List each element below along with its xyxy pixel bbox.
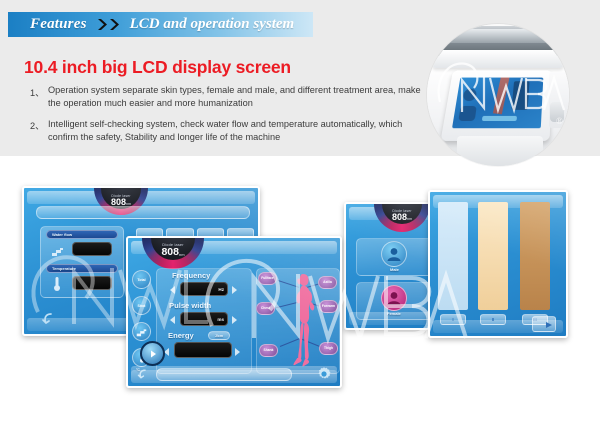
photo-lcd-bezel [440, 70, 552, 141]
skin-type-iii[interactable] [520, 202, 550, 310]
list-item: 1、 Operation system separate skin types,… [30, 84, 430, 111]
bullet-text: Intelligent self-checking system, check … [48, 118, 430, 145]
area-shank[interactable]: Shank [259, 344, 278, 357]
skin-type-label-ii[interactable]: II [480, 314, 506, 325]
area-forearm[interactable]: Forearm [319, 300, 338, 313]
pulse-width-value[interactable]: ms [180, 312, 228, 326]
banner-label: Features [30, 16, 87, 33]
faucet-icon [49, 242, 65, 258]
pulse-width-label: Pulse width [169, 301, 211, 310]
pulse-width-unit: ms [217, 317, 227, 322]
water-flow-label-bar: Water flow [46, 230, 118, 239]
thermometer-icon [51, 276, 64, 292]
play-button-icon[interactable] [140, 341, 165, 366]
frequency-unit: Hz [218, 287, 227, 292]
male-head-icon [381, 241, 407, 267]
brand-logo-badge: Diode laser 808 nm [142, 238, 204, 269]
bullet-number: 2、 [30, 118, 48, 145]
status-bar-field[interactable] [156, 368, 292, 381]
logo-line-2: 808 [161, 248, 179, 258]
area-axilla[interactable]: Axilla [318, 276, 337, 289]
logo-line-3: nm [407, 217, 412, 222]
total-counter[interactable]: Total [132, 270, 151, 289]
skin-type-i[interactable] [438, 202, 468, 310]
bullet-text: Operation system separate skin types, fe… [48, 84, 430, 111]
lcd-screen-skin-type[interactable]: I II III [428, 190, 568, 338]
area-chest[interactable]: Chest [256, 302, 275, 315]
brand-logo-badge: Diode laser 808 nm [374, 204, 430, 232]
features-banner: Features LCD and operation system [8, 12, 313, 37]
back-arrow-icon[interactable] [136, 367, 150, 381]
area-thigh[interactable]: Thigh [319, 342, 338, 355]
temperature-label: Temperature [52, 266, 76, 271]
back-arrow-icon[interactable] [40, 310, 58, 328]
feature-bullet-list: 1、 Operation system separate skin types,… [30, 84, 430, 151]
pulse-width-increment[interactable] [232, 316, 237, 324]
lcd-screen-parameters[interactable]: Diode laser 808 nm Total Shot °C [126, 236, 342, 388]
frequency-label: Frequency [172, 271, 210, 280]
female-head-icon [381, 285, 407, 311]
water-flow-value[interactable] [72, 242, 112, 256]
banner-title: LCD and operation system [130, 16, 295, 33]
shot-counter[interactable]: Shot [132, 296, 151, 315]
svg-text:®: ® [458, 343, 469, 358]
frequency-decrement[interactable] [170, 286, 175, 294]
energy-label: Energy [168, 331, 194, 340]
double-chevron-right-icon [97, 18, 120, 31]
female-silhouette [284, 272, 324, 368]
energy-value[interactable] [174, 342, 232, 358]
energy-unit-badge: J/cm [208, 331, 230, 340]
gender-label-female: Female [387, 311, 401, 316]
photo-lcd-screen [452, 78, 543, 129]
temperature-value[interactable] [72, 276, 112, 290]
frequency-value[interactable]: Hz [180, 282, 228, 296]
skin-type-ii[interactable] [478, 202, 508, 310]
page-root: Features LCD and operation system 10.4 i… [0, 0, 600, 422]
pulse-width-decrement[interactable] [170, 316, 175, 324]
machine-lcd-photo [427, 24, 569, 166]
next-arrow-icon[interactable] [532, 316, 556, 332]
gear-icon[interactable] [316, 366, 332, 382]
faucet-icon[interactable] [132, 322, 151, 341]
water-flow-label: Water flow [52, 232, 72, 237]
page-title: 10.4 inch big LCD display screen [24, 57, 291, 78]
list-item: 2、 Intelligent self-checking system, che… [30, 118, 430, 145]
screen-header-bar [36, 206, 250, 219]
skin-type-label-i[interactable]: I [440, 314, 466, 325]
gender-label-male: Male [390, 267, 399, 272]
bullet-number: 1、 [30, 84, 48, 111]
area-fullface[interactable]: Fullface [258, 272, 277, 285]
energy-increment[interactable] [235, 348, 240, 356]
frequency-increment[interactable] [232, 286, 237, 294]
logo-line-3: nm [179, 252, 185, 258]
logo-line-2: 808 [392, 213, 407, 222]
temperature-label-bar: Temperature [46, 264, 118, 273]
